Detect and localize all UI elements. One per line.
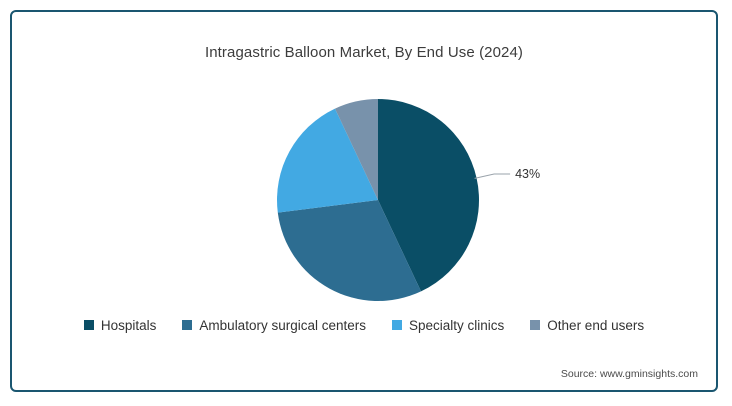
pie-chart-svg: 43% [158, 76, 558, 306]
slice-label-hospitals: 43% [515, 167, 540, 181]
legend-item-label: Ambulatory surgical centers [199, 319, 366, 333]
legend-swatch-icon [530, 320, 540, 330]
legend-item[interactable]: Specialty clinics [392, 319, 504, 333]
legend-item[interactable]: Other end users [530, 319, 644, 333]
pie-leader-lines [475, 174, 511, 178]
chart-legend: HospitalsAmbulatory surgical centersSpec… [12, 319, 716, 333]
legend-swatch-icon [84, 320, 94, 330]
legend-item-label: Specialty clinics [409, 319, 504, 333]
legend-swatch-icon [182, 320, 192, 330]
legend-item-label: Other end users [547, 319, 644, 333]
pie-chart-area: 43% [12, 12, 720, 394]
legend-item[interactable]: Ambulatory surgical centers [182, 319, 366, 333]
leader-line [475, 174, 511, 178]
legend-item[interactable]: Hospitals [84, 319, 157, 333]
figure-frame: Intragastric Balloon Market, By End Use … [10, 10, 718, 392]
legend-item-label: Hospitals [101, 319, 157, 333]
pie-slices [277, 99, 479, 301]
source-note: Source: www.gminsights.com [561, 368, 698, 380]
legend-swatch-icon [392, 320, 402, 330]
